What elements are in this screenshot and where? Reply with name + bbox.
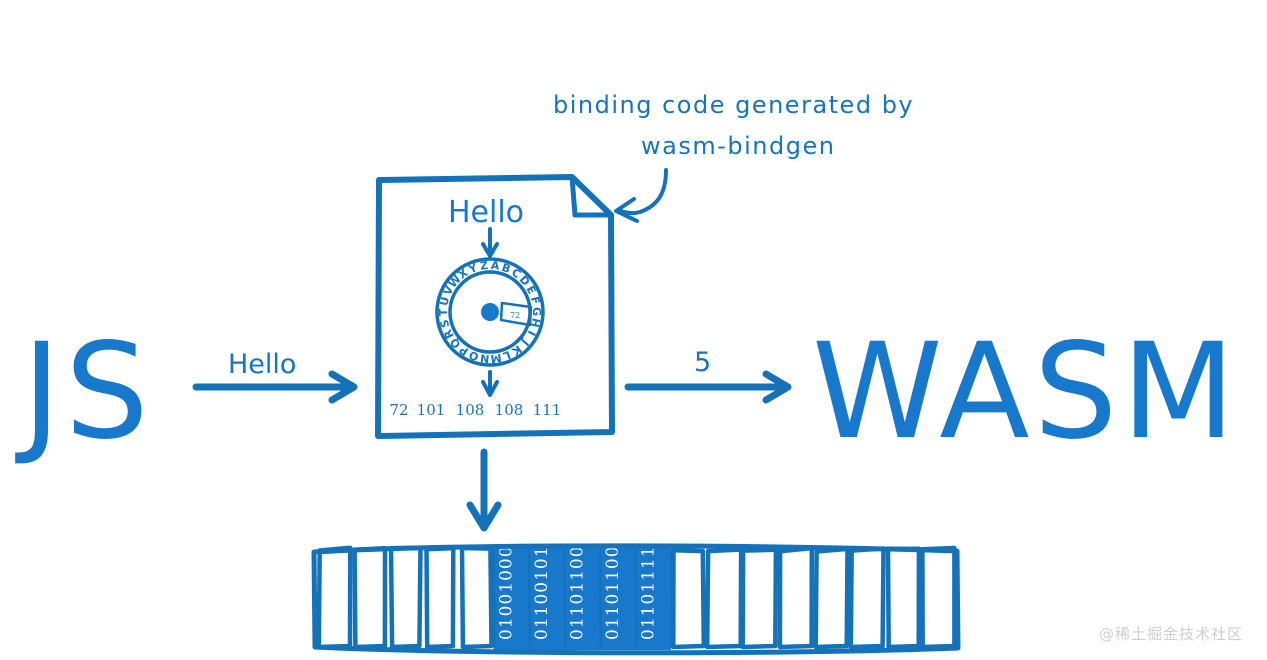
annotation-line-1: binding code generated by: [553, 91, 914, 119]
wheel-letter: I: [525, 328, 538, 338]
memory-cell-empty: [319, 548, 350, 647]
memory-cell-empty: [888, 549, 919, 647]
memory-cell-empty: [851, 549, 884, 648]
memory-cell-empty: [673, 550, 704, 647]
arrow-document-to-wasm-label: 5: [694, 347, 711, 378]
arrow-wheel-to-ascii: [483, 372, 497, 395]
ascii-code: 108: [495, 401, 524, 419]
memory-cell-empty: [355, 548, 385, 647]
wheel-letter: L: [501, 348, 512, 363]
memory-cell-divider: [565, 550, 566, 646]
wheel-letter: M: [490, 351, 503, 365]
ascii-code: 108: [456, 401, 485, 419]
wheel-needle-value: 72: [510, 311, 520, 320]
wheel-letter: F: [528, 295, 542, 306]
memory-cell-divider: [671, 550, 672, 646]
memory-cell-bits: 01101100: [603, 545, 623, 640]
curved-arrow-to-document: [616, 170, 666, 221]
ascii-codes-row: 72101108108111: [389, 401, 561, 419]
wheel-letter: T: [437, 308, 450, 316]
wheel-letter: A: [490, 259, 500, 273]
linear-memory-strip: 0100100001100101011011000110110001101111: [314, 544, 958, 653]
annotation-line-2: wasm-bindgen: [641, 132, 835, 160]
memory-cells: [319, 548, 955, 647]
memory-cell-bits: 01100101: [532, 545, 552, 640]
wheel-letter: S: [438, 318, 453, 329]
wheel-letter: J: [519, 336, 532, 348]
ascii-code: 101: [417, 401, 446, 419]
wheel-letter: G: [530, 307, 543, 316]
memory-cell-bits: 01101100: [567, 545, 587, 640]
watermark: @稀土掘金技术社区: [1099, 623, 1243, 644]
memory-cell-empty: [707, 550, 741, 648]
cipher-wheel: 72 WXYZABCDEFGHIJKLMNOPQRSTUV: [437, 259, 543, 365]
memory-cell-bits: 01101111: [638, 545, 658, 640]
memory-cell-empty: [780, 548, 812, 647]
memory-cell-bits: 01001000: [496, 545, 516, 640]
wheel-letter: Z: [479, 259, 489, 273]
wheel-letter: H: [528, 317, 543, 329]
js-label: JS: [15, 315, 153, 469]
memory-cell-empty: [462, 548, 492, 647]
wheel-letter: N: [480, 351, 491, 365]
memory-cell-empty: [743, 550, 776, 647]
ascii-code: 72: [389, 401, 408, 419]
memory-cell-divider: [494, 550, 495, 646]
memory-cell-empty: [922, 548, 954, 647]
memory-cell-divider: [636, 550, 637, 646]
ascii-code: 111: [533, 401, 562, 419]
document-input-text: Hello: [448, 195, 524, 230]
memory-cell-empty: [391, 548, 421, 647]
diagram-canvas: JS Hello binding code generated by wasm-…: [0, 0, 1267, 660]
arrow-document-to-memory: [470, 452, 498, 528]
arrow-hello-to-wheel: [483, 229, 497, 256]
memory-cell-empty: [816, 549, 848, 647]
memory-cell-divider: [529, 550, 530, 646]
wasm-label: WASM: [812, 315, 1239, 469]
arrow-js-to-document-label: Hello: [228, 349, 296, 380]
memory-cell-empty: [427, 548, 454, 647]
memory-cell-divider: [600, 550, 601, 646]
